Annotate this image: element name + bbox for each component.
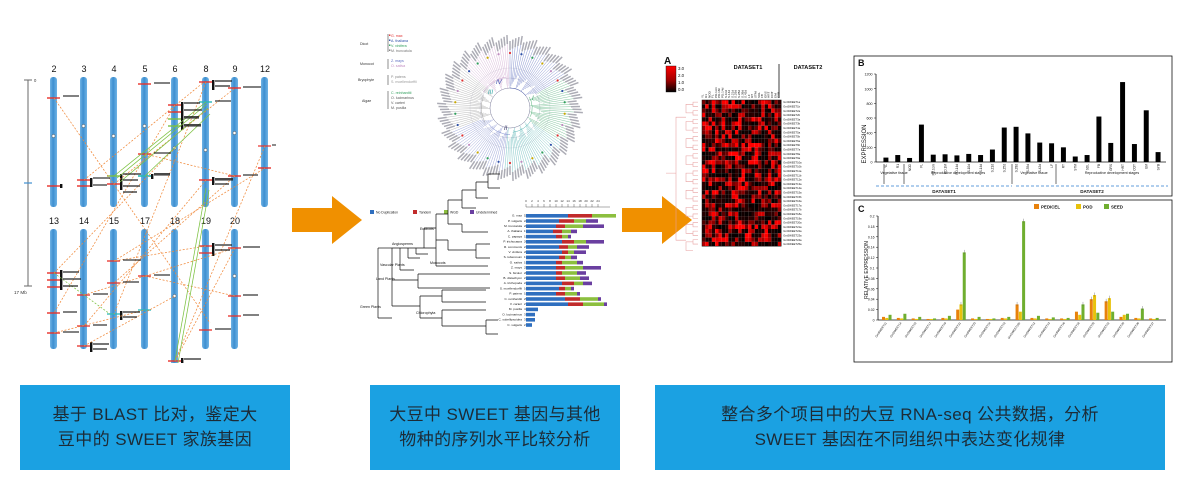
heatmap-cell [745, 233, 748, 237]
heatmap-cell [712, 182, 715, 186]
cladogram-bar-segment [604, 302, 607, 306]
cladogram-bar-segment [556, 276, 565, 280]
heatmap-cell [745, 109, 748, 113]
legend-wgd: WGD [450, 211, 459, 215]
heatmap-cell [748, 117, 751, 121]
heatmap-cell [758, 229, 761, 233]
cladogram-row: S. moellendorffii16 [500, 286, 574, 290]
heatmap-cell [735, 152, 738, 156]
cladogram-bar-segment [556, 261, 562, 265]
heatmap-cell [771, 152, 774, 156]
heatmap-cell [761, 177, 764, 181]
heatmap-cell [735, 233, 738, 237]
chromosome-label: 8 [203, 64, 208, 74]
heatmap-cell [728, 173, 731, 177]
heatmap-cell [712, 208, 715, 212]
heatmap-cell [702, 233, 705, 237]
heatmap-cell [748, 156, 751, 160]
heatmap-cell [768, 229, 771, 233]
heatmap-cell [715, 229, 718, 233]
heatmap-cell [728, 134, 731, 138]
cladogram-bar-segment [562, 240, 574, 244]
panel-c-bar [889, 315, 892, 320]
heatmap-cell [765, 152, 768, 156]
heatmap-cell [755, 139, 758, 143]
heatmap-cell [702, 195, 705, 199]
heatmap-cell [761, 139, 764, 143]
cladogram-bar-segment [526, 323, 532, 327]
node-monocots: Monocots [430, 261, 446, 265]
heatmap-cell [738, 190, 741, 194]
heatmap-cell [778, 169, 781, 173]
heatmap-cell [778, 203, 781, 207]
cladogram-species-label: C. subellipsoidea [498, 318, 522, 322]
heatmap-cell [702, 152, 705, 156]
cladogram-row: S. bicolor20 [509, 271, 586, 275]
heatmap-cell [768, 182, 771, 186]
heatmap-cell [748, 229, 751, 233]
heatmap-cell [775, 134, 778, 138]
heatmap-cell [752, 165, 755, 169]
heatmap-cell [728, 182, 731, 186]
heatmap-cell [705, 190, 708, 194]
heatmap-cell [765, 165, 768, 169]
heatmap-cell [748, 186, 751, 190]
heatmap-cell [705, 122, 708, 126]
cladogram-bar-segment [562, 261, 577, 265]
heatmap-cell [768, 186, 771, 190]
heatmap-cell [728, 177, 731, 181]
heatmap-cell [728, 225, 731, 229]
heatmap-cell [778, 152, 781, 156]
heatmap-cell [748, 242, 751, 246]
panel-b-bar [883, 158, 888, 162]
legend-tandem: Tandem [419, 211, 431, 215]
heatmap-cell [709, 130, 712, 134]
heatmap-cell [709, 152, 712, 156]
panel-b-x-label: SDL [1085, 164, 1089, 170]
heatmap-cell [771, 177, 774, 181]
heatmap-cell [709, 139, 712, 143]
heatmap-cell [771, 143, 774, 147]
panel-c-y-tick: 0.08 [868, 277, 875, 281]
heatmap-cell [719, 212, 722, 216]
heatmap-cell [758, 212, 761, 216]
heatmap-cell [732, 220, 735, 224]
panel-c-bar [945, 318, 948, 320]
heatmap-cell [778, 160, 781, 164]
heatmap-cell [771, 182, 774, 186]
heatmap-cell [702, 165, 705, 169]
heatmap-cell [732, 134, 735, 138]
cladogram-axis: 024681012141618202224 [525, 199, 610, 207]
clade-label-III: III [488, 90, 493, 96]
heatmap-cell [725, 238, 728, 242]
panel-b-dataset2: DATASET2 [1080, 189, 1104, 194]
heatmap-cell [748, 100, 751, 104]
heatmap-cell [768, 169, 771, 173]
heatmap-cell [778, 147, 781, 151]
heatmap-cell [761, 220, 764, 224]
heatmap-cell [728, 152, 731, 156]
heatmap-cell [765, 212, 768, 216]
svg-text:12: 12 [560, 199, 564, 203]
heatmap-cell [722, 109, 725, 113]
chromosome-label: 14 [79, 216, 89, 226]
heatmap-cell [752, 104, 755, 108]
heatmap-cell [778, 100, 781, 104]
panel-c-bar [1141, 309, 1144, 320]
heatmap-cell [732, 147, 735, 151]
heatmap-cell [745, 199, 748, 203]
heatmap-cell [702, 182, 705, 186]
heatmap-cell [755, 117, 758, 121]
heatmap-cell [761, 156, 764, 160]
heatmap-cell [768, 212, 771, 216]
heatmap-cell [758, 177, 761, 181]
heatmap-cell [709, 134, 712, 138]
legend-species: M. pusilla [391, 106, 406, 110]
legend-group-monocot-label: Monocot [360, 62, 374, 66]
heatmap-cell [745, 208, 748, 212]
chromosome-14: 14 [77, 216, 92, 352]
caption-3-line-2: SWEET 基因在不同组织中表达变化规律 [721, 428, 1099, 453]
heatmap-cell [738, 104, 741, 108]
heatmap-cell [705, 186, 708, 190]
caption-1-line-2: 豆中的 SWEET 家族基因 [53, 428, 258, 453]
panel-c-x-label: GmSWEET27 [1141, 321, 1155, 338]
heatmap-colorbar: 3.0 2.0 1.0 0.0 [666, 66, 685, 92]
heatmap-cell [765, 190, 768, 194]
heatmap-cell [728, 104, 731, 108]
heatmap-cell [748, 233, 751, 237]
svg-text:10: 10 [554, 199, 558, 203]
heatmap-cell [752, 190, 755, 194]
heatmap-cell [732, 208, 735, 212]
heatmap-cell [702, 220, 705, 224]
heatmap-cell [742, 173, 745, 177]
heatmap-cell [778, 182, 781, 186]
cladogram-bar-segment [568, 214, 592, 218]
heatmap-gene-label: GmSWEET7a [783, 148, 800, 152]
heatmap-cell [719, 233, 722, 237]
cladogram-bar-segment [526, 256, 559, 260]
heatmap-cell [775, 160, 778, 164]
heatmap-cell [715, 182, 718, 186]
heatmap-cell [728, 195, 731, 199]
panel-c-x-label: GmSWEET16 [1052, 321, 1066, 338]
panel-c-bar [1016, 304, 1019, 320]
heatmap-cell [745, 212, 748, 216]
panel-b-dataset1: DATASET1 [932, 189, 956, 194]
heatmap-cell [748, 177, 751, 181]
panel-c-x-label: GmSWEET22 [1097, 321, 1111, 338]
heatmap-cell [765, 134, 768, 138]
heatmap-cell [702, 160, 705, 164]
heatmap-cell [778, 109, 781, 113]
panel-c-x-label: GmSWEET11 [874, 321, 888, 338]
heatmap-cell [742, 134, 745, 138]
cladogram-species-label: B. distachyon [503, 276, 522, 280]
heatmap-cell [732, 104, 735, 108]
chromosome-label: 15 [109, 216, 119, 226]
heatmap-cell [725, 169, 728, 173]
heatmap-cell [705, 134, 708, 138]
heatmap-cell [735, 182, 738, 186]
svg-text:24: 24 [596, 199, 600, 203]
heatmap-cell [768, 208, 771, 212]
circular-tree-legend: Dicot G. max A. thaliana V. vinifera M. … [358, 34, 417, 110]
heatmap-cell [761, 186, 764, 190]
heatmap-cell [738, 152, 741, 156]
cladogram-rows: G. max52P. vulgaris24M. truncatula26A. t… [498, 214, 616, 327]
heatmap-cell [771, 147, 774, 151]
svg-text:16: 16 [572, 199, 576, 203]
cladogram-bar-segment [526, 261, 556, 265]
heatmap-cell [709, 117, 712, 121]
panel-c-bar [1022, 221, 1025, 320]
heatmap-cell [778, 238, 781, 242]
heatmap-cell [709, 229, 712, 233]
heatmap-cell [761, 233, 764, 237]
heatmap-cell [719, 160, 722, 164]
cladogram-bar-segment [568, 245, 577, 249]
heatmap-cell [705, 182, 708, 186]
cladogram-bar-segment [559, 245, 568, 249]
panel-c-bar [1034, 318, 1037, 320]
heatmap-cell [712, 190, 715, 194]
heatmap-cell [775, 212, 778, 216]
heatmap-cell [735, 177, 738, 181]
heatmap-cell [778, 220, 781, 224]
panel-b-bar [1002, 128, 1007, 162]
panel-c-x-label: GmSWEET25 [1112, 321, 1126, 338]
heatmap-cell [752, 117, 755, 121]
heatmap-gene-label: GmSWEET18a [783, 212, 802, 216]
heatmap-cell [725, 212, 728, 216]
heatmap-cell [765, 126, 768, 130]
heatmap-cell [768, 238, 771, 242]
heatmap-cell [765, 203, 768, 207]
chromosome-label: 4 [111, 64, 116, 74]
heatmap-cell [752, 147, 755, 151]
panel-b-y-tick: 0 [871, 161, 873, 165]
heatmap-cell [768, 216, 771, 220]
heatmap-cell [778, 104, 781, 108]
heatmap-cell [755, 216, 758, 220]
heatmap-cell [778, 190, 781, 194]
cladogram-row: B. distachyon21 [503, 276, 589, 280]
heatmap-cell [715, 100, 718, 104]
heatmap-cell [712, 104, 715, 108]
heatmap-cell [735, 225, 738, 229]
heatmap-cell [758, 122, 761, 126]
heatmap-cell [752, 169, 755, 173]
heatmap-cell [778, 199, 781, 203]
heatmap-cell [725, 225, 728, 229]
heatmap-cell [738, 186, 741, 190]
heatmap-cell [765, 195, 768, 199]
cladogram-bar-segment [580, 276, 589, 280]
cladogram-branches [378, 174, 500, 334]
heatmap-gene-label: GmSWEET13a [783, 182, 802, 186]
panel-c-bar [992, 318, 995, 320]
heatmap-cell [705, 238, 708, 242]
heatmap-cell [702, 177, 705, 181]
panel-b-x-label: EM [1144, 164, 1148, 169]
legend-group-algae-label: Algae [362, 99, 371, 103]
cladogram-bar-segment [577, 292, 580, 296]
legend-species: S. moellendorffii [391, 80, 417, 84]
heatmap-cell [702, 212, 705, 216]
cladogram-bar-segment [556, 271, 562, 275]
clade-label-IV: IV [496, 80, 503, 86]
heatmap-cell [752, 109, 755, 113]
heatmap-cell [738, 233, 741, 237]
heatmap-cell [752, 113, 755, 117]
colorbar-tick: 3.0 [678, 66, 685, 71]
heatmap-cell [715, 147, 718, 151]
heatmap-cell [755, 160, 758, 164]
panel-b-bar [907, 158, 912, 162]
heatmap-cell [728, 216, 731, 220]
heatmap-cell [735, 208, 738, 212]
heatmap-gene-label: GmSWEET10a [783, 160, 802, 164]
panel-c-bar [882, 317, 885, 320]
heatmap-cell [715, 117, 718, 121]
panel-b-x-label: S.28d [1014, 164, 1018, 173]
panel-b-bar [1132, 144, 1137, 162]
heatmap-cell [719, 216, 722, 220]
heatmap-cell [722, 113, 725, 117]
heatmap-cell [702, 173, 705, 177]
heatmap-cell [758, 186, 761, 190]
heatmap-cell [702, 143, 705, 147]
heatmap-cell [755, 177, 758, 181]
heatmap-cell [748, 130, 751, 134]
heatmap-cell [732, 233, 735, 237]
heatmap-cell [761, 195, 764, 199]
heatmap-cell [748, 173, 751, 177]
cladogram-species-label: O. lucimarinus [502, 312, 522, 316]
heatmap-cell [725, 220, 728, 224]
heatmap-gene-label: GmSWEET19a [783, 216, 802, 220]
heatmap-cell [728, 220, 731, 224]
cladogram-species-label: O. sativa [510, 260, 522, 264]
heatmap-gene-label: GmSWEET20a [783, 221, 802, 225]
heatmap-cell [702, 117, 705, 121]
heatmap-cell [768, 156, 771, 160]
heatmap-cell [778, 242, 781, 246]
heatmap-cell [748, 126, 751, 130]
heatmap-cell [702, 238, 705, 242]
heatmap-cell [712, 242, 715, 246]
panel-b-x-label: FB [1097, 164, 1101, 168]
heatmap-cell [722, 242, 725, 246]
heatmap-cell [722, 225, 725, 229]
heatmap-cell [775, 122, 778, 126]
heatmap-cell [709, 165, 712, 169]
heatmap-cell [742, 186, 745, 190]
heatmap-cell [768, 203, 771, 207]
heatmap-cell [771, 169, 774, 173]
heatmap-cell [742, 220, 745, 224]
heatmap-cell [725, 152, 728, 156]
heatmap-cell [715, 225, 718, 229]
cladogram-bar-segment [562, 250, 568, 254]
heatmap-cell [745, 182, 748, 186]
heatmap-cell [771, 117, 774, 121]
heatmap-cell [732, 199, 735, 203]
heatmap-cell [728, 208, 731, 212]
heatmap-cell [748, 122, 751, 126]
cladogram-row: P. patens18 [509, 292, 580, 296]
cladogram-bar-segment [526, 240, 562, 244]
heatmap-cell [719, 199, 722, 203]
heatmap-cell [732, 165, 735, 169]
heatmap-cell [715, 152, 718, 156]
chromosome-13: 13 [47, 216, 62, 349]
cladogram-bar-segment [526, 219, 559, 223]
heatmap-cell [758, 238, 761, 242]
heatmap-cell [745, 130, 748, 134]
heatmap-cell [712, 143, 715, 147]
svg-text:18: 18 [578, 199, 582, 203]
heatmap-cell [755, 143, 758, 147]
heatmap-cell [712, 139, 715, 143]
heatmap-cell [768, 233, 771, 237]
panel-c-legend-pod: POD [1083, 204, 1093, 209]
heatmap-cell [765, 117, 768, 121]
cladogram-bar-segment [565, 266, 583, 270]
heatmap-cell [771, 100, 774, 104]
heatmap-cell [742, 199, 745, 203]
heatmap-cell [732, 152, 735, 156]
heatmap-cell [742, 126, 745, 130]
heatmap-cell [705, 152, 708, 156]
heatmap-cell [771, 134, 774, 138]
heatmap-cell [732, 117, 735, 121]
panel-c-bar [1090, 299, 1093, 320]
heatmap-cell [712, 220, 715, 224]
heatmap-cell [722, 100, 725, 104]
panel-b-x-label: S.21d [991, 164, 995, 173]
heatmap-cell [738, 117, 741, 121]
heatmap-cell [735, 220, 738, 224]
heatmap-cell [712, 195, 715, 199]
cladogram-species-label: P. trichocarpa [503, 240, 522, 244]
panel-c-bar [1004, 318, 1007, 320]
heatmap-cell [752, 160, 755, 164]
heatmap-cell [712, 134, 715, 138]
cladogram-row: P. vulgaris24 [508, 219, 598, 223]
heatmap-cell [728, 117, 731, 121]
heatmap-cell [765, 122, 768, 126]
heatmap-gene-label: GmSWEET22a [783, 229, 802, 233]
panel-c-bar [1060, 318, 1063, 320]
panel-c-bar [1119, 317, 1122, 320]
heatmap-cell [755, 212, 758, 216]
heatmap-cell [719, 104, 722, 108]
cladogram-bar-segment [526, 292, 556, 296]
chromosome-17: 17 [138, 216, 151, 349]
cladogram-bar-segment [571, 256, 577, 260]
heatmap-cell [722, 216, 725, 220]
heatmap-cell [725, 100, 728, 104]
heatmap-cell [745, 143, 748, 147]
legend-species: A. thaliana [391, 39, 408, 43]
heatmap-cell [768, 147, 771, 151]
